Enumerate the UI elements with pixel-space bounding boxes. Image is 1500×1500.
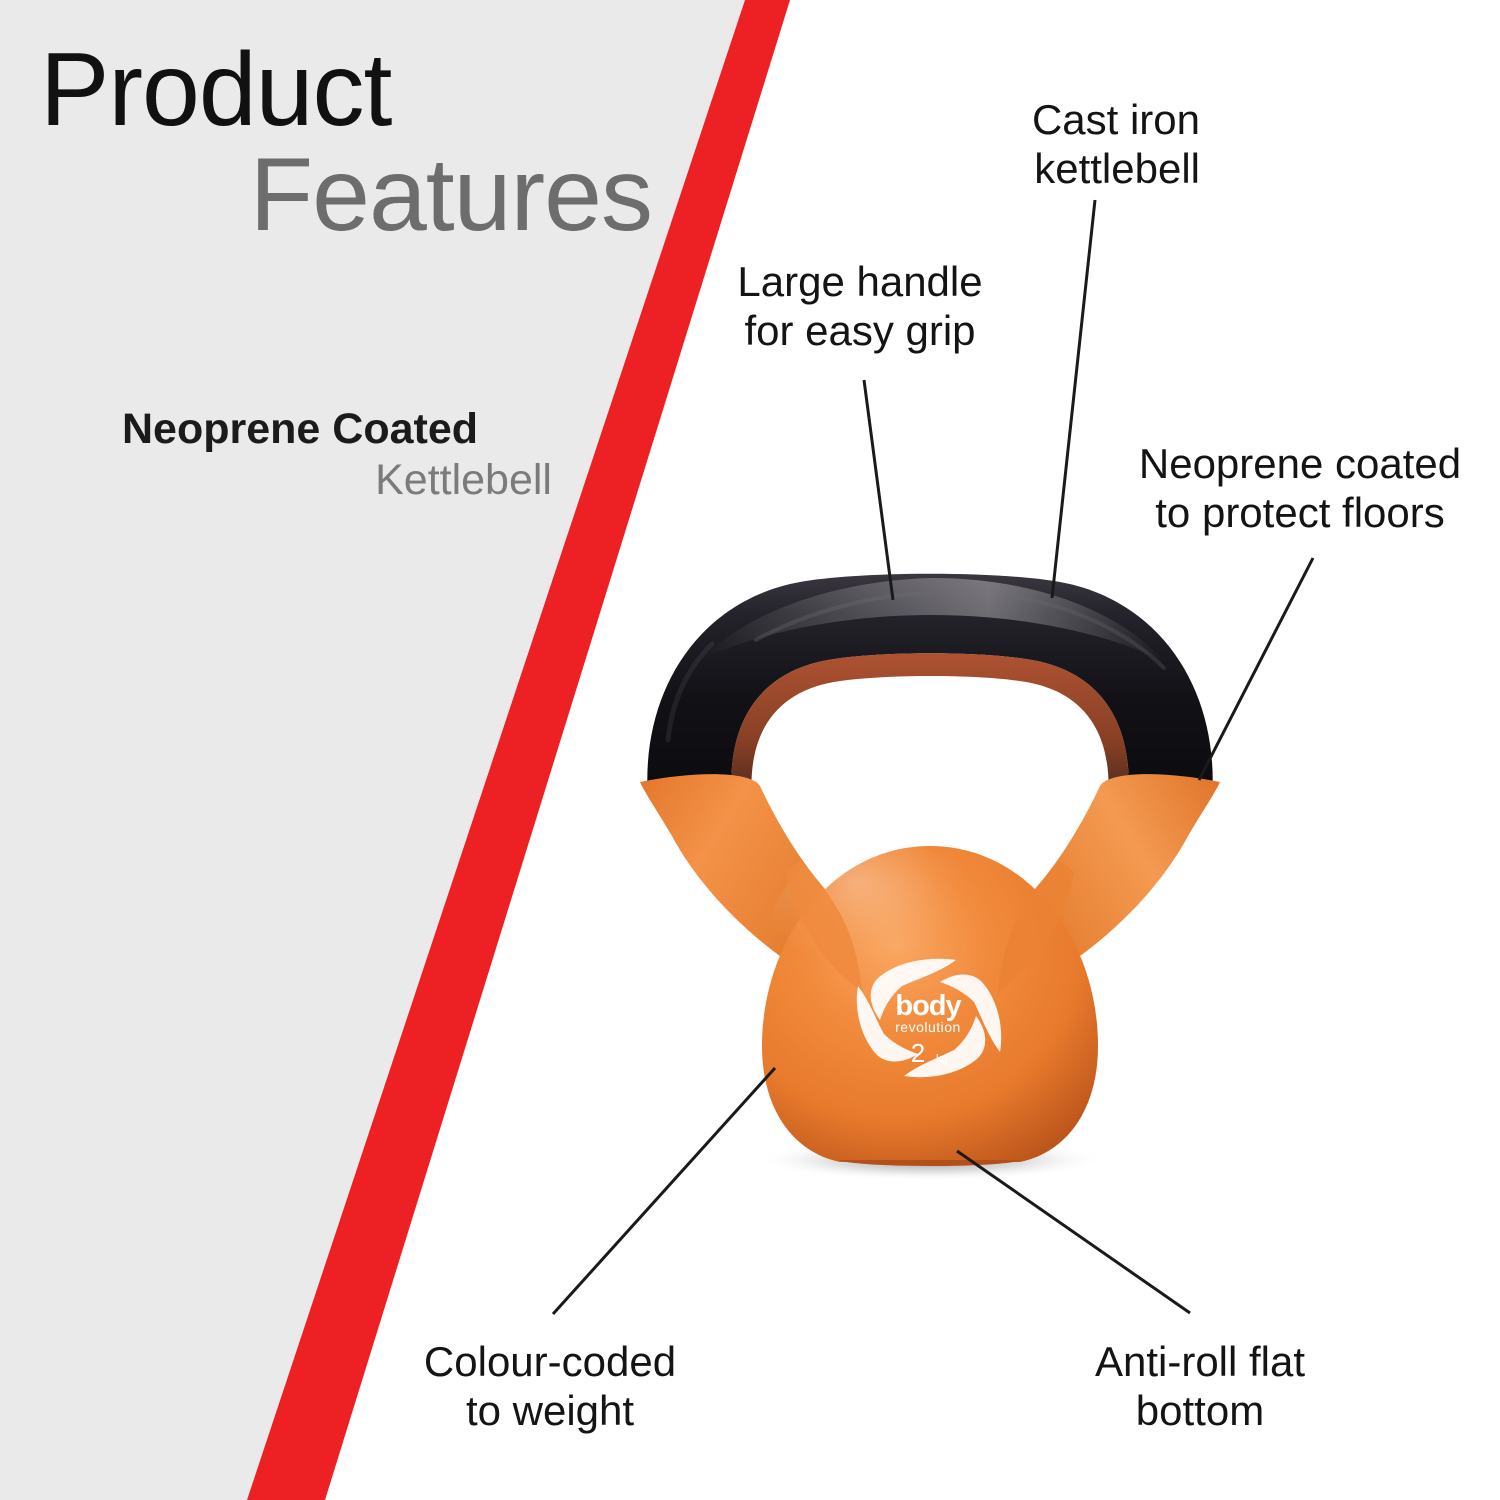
leader-line-neoprene-coated (1199, 558, 1313, 780)
leader-line-cast-iron (1052, 200, 1095, 598)
leader-line-colour-coded (553, 1068, 775, 1314)
callout-label-cast-iron: Cast iron kettlebell (900, 96, 1200, 193)
leader-line-large-handle (864, 380, 893, 600)
callout-label-anti-roll: Anti-roll flat bottom (1060, 1338, 1340, 1435)
page-title-product: Product (40, 40, 660, 142)
leader-line-anti-roll (957, 1151, 1190, 1313)
callout-label-colour-coded: Colour-coded to weight (400, 1338, 700, 1435)
headline-block: Product Features (40, 40, 660, 248)
callout-label-large-handle: Large handle for easy grip (700, 258, 1020, 355)
product-features-infographic: Product Features Neoprene Coated Kettleb… (0, 0, 1500, 1500)
subtitle-block: Neoprene Coated Kettlebell (60, 405, 560, 509)
callout-label-neoprene-coated: Neoprene coated to protect floors (1110, 440, 1490, 537)
page-title-features: Features (40, 142, 660, 248)
subtitle-neoprene-coated: Neoprene Coated (60, 405, 560, 453)
subtitle-kettlebell: Kettlebell (60, 453, 560, 509)
